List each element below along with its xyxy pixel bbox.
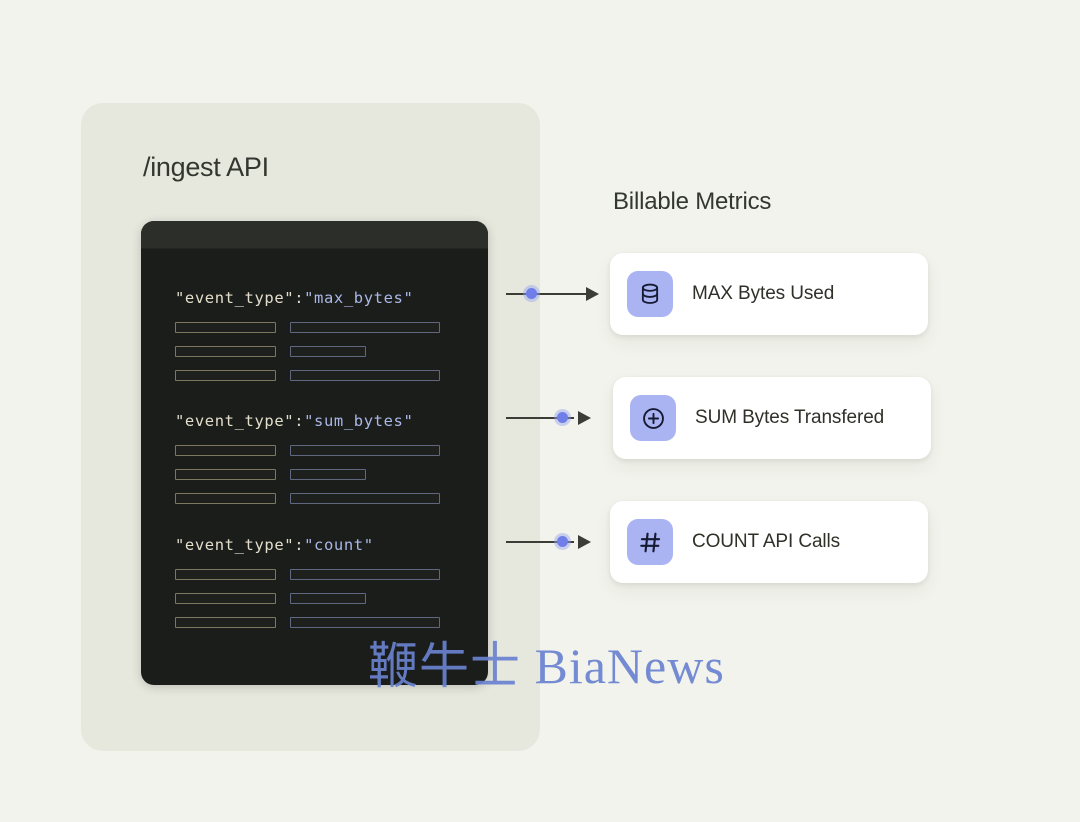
arrow-max-bytes (506, 283, 602, 305)
arrow-head-icon (578, 535, 591, 549)
code-window-titlebar (141, 221, 488, 249)
billable-metrics-heading: Billable Metrics (613, 188, 771, 216)
placeholder-bar-rows (141, 321, 488, 382)
metric-card-hash[interactable]: COUNT API Calls (610, 501, 928, 583)
arrow-head-icon (578, 411, 591, 425)
json-separator: : (294, 412, 304, 430)
json-separator: : (294, 289, 304, 307)
placeholder-bar-row (175, 592, 488, 605)
arrow-node-dot (557, 412, 568, 423)
placeholder-bar-right (290, 370, 440, 381)
placeholder-bar-right (290, 346, 366, 357)
placeholder-bar-right (290, 569, 440, 580)
arrow-node-dot (557, 536, 568, 547)
metric-card-label: COUNT API Calls (692, 531, 840, 553)
placeholder-bar-left (175, 493, 276, 504)
json-key: "event_type" (175, 289, 294, 307)
arrow-count (506, 531, 602, 553)
placeholder-bar-row (175, 616, 488, 629)
placeholder-bar-left (175, 445, 276, 456)
metric-card-label: MAX Bytes Used (692, 283, 834, 305)
placeholder-bar-row (175, 568, 488, 581)
arrow-shaft (506, 293, 588, 295)
json-value: "max_bytes" (304, 289, 413, 307)
page-title: /ingest API (143, 152, 269, 183)
metric-card-label: SUM Bytes Transfered (695, 407, 884, 429)
placeholder-bar-row (175, 444, 488, 457)
code-group-count: "event_type":"count" (141, 538, 488, 640)
placeholder-bar-row (175, 369, 488, 382)
placeholder-bar-row (175, 468, 488, 481)
placeholder-bar-left (175, 346, 276, 357)
json-value: "count" (304, 536, 374, 554)
placeholder-bar-left (175, 322, 276, 333)
placeholder-bar-right (290, 617, 440, 628)
json-line-sum-bytes: "event_type":"sum_bytes" (141, 414, 488, 430)
json-value: "sum_bytes" (304, 412, 413, 430)
placeholder-bar-left (175, 593, 276, 604)
hash-icon (627, 519, 673, 565)
json-separator: : (294, 536, 304, 554)
code-group-max-bytes: "event_type":"max_bytes" (141, 291, 488, 393)
placeholder-bar-right (290, 593, 366, 604)
placeholder-bar-rows (141, 568, 488, 629)
code-window: "event_type":"max_bytes""event_type":"su… (141, 221, 488, 685)
placeholder-bar-right (290, 322, 440, 333)
json-key: "event_type" (175, 412, 294, 430)
placeholder-bar-row (175, 345, 488, 358)
placeholder-bar-right (290, 493, 440, 504)
placeholder-bar-rows (141, 444, 488, 505)
json-line-count: "event_type":"count" (141, 538, 488, 554)
code-group-sum-bytes: "event_type":"sum_bytes" (141, 414, 488, 516)
placeholder-bar-left (175, 617, 276, 628)
placeholder-bar-left (175, 569, 276, 580)
diagram-canvas: /ingest API "event_type":"max_bytes""eve… (0, 0, 1080, 822)
json-key: "event_type" (175, 536, 294, 554)
placeholder-bar-row (175, 492, 488, 505)
arrow-node-dot (526, 288, 537, 299)
arrow-head-icon (586, 287, 599, 301)
json-line-max-bytes: "event_type":"max_bytes" (141, 291, 488, 307)
metric-card-database[interactable]: MAX Bytes Used (610, 253, 928, 335)
placeholder-bar-right (290, 469, 366, 480)
placeholder-bar-row (175, 321, 488, 334)
placeholder-bar-left (175, 370, 276, 381)
metric-card-plus-circle[interactable]: SUM Bytes Transfered (613, 377, 931, 459)
plus-circle-icon (630, 395, 676, 441)
database-icon (627, 271, 673, 317)
arrow-sum-bytes (506, 407, 602, 429)
placeholder-bar-right (290, 445, 440, 456)
placeholder-bar-left (175, 469, 276, 480)
code-window-body: "event_type":"max_bytes""event_type":"su… (141, 249, 488, 685)
